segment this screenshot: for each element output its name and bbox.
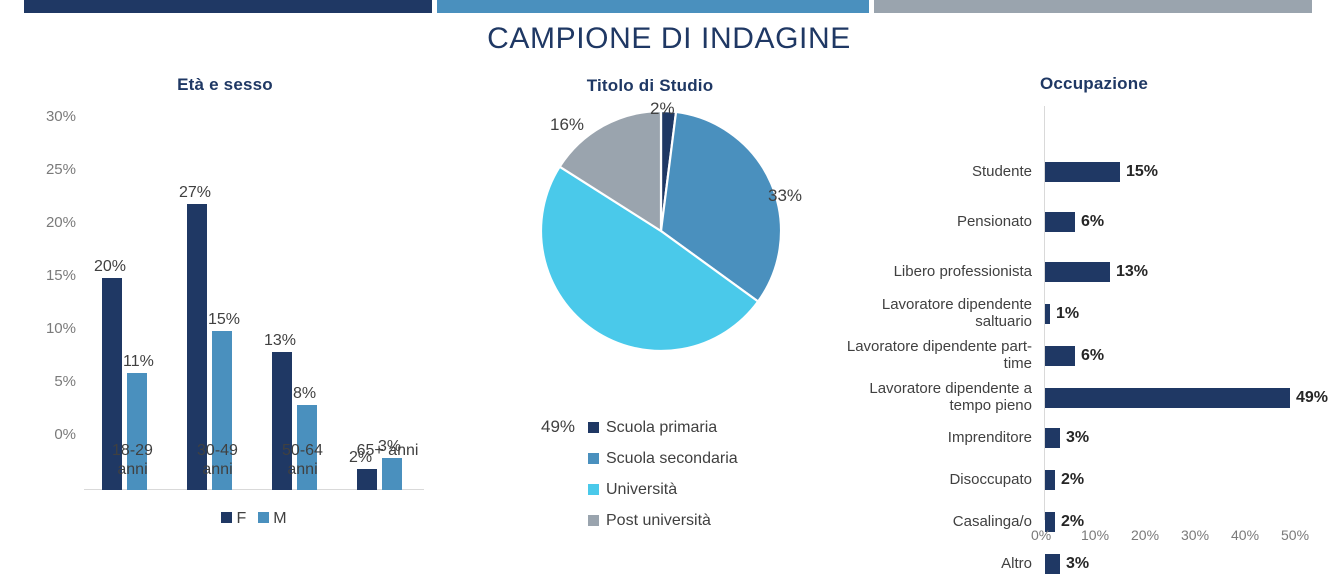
x-axis-category-label: 30-49anni <box>175 442 260 480</box>
x-axis-tick: 50% <box>1281 528 1309 542</box>
bar[interactable] <box>1045 262 1110 282</box>
bar[interactable] <box>1045 304 1050 324</box>
x-axis-category-label: 18-29anni <box>90 442 175 480</box>
bar[interactable] <box>1045 428 1060 448</box>
bar[interactable] <box>1045 346 1075 366</box>
y-axis-tick: 30% <box>8 109 76 124</box>
bar-category-label: Libero professionista <box>822 263 1032 280</box>
bar-category-label: Imprenditore <box>822 429 1032 446</box>
bar-value-label: 1% <box>1056 306 1079 322</box>
bar-value-label: 13% <box>1116 264 1148 280</box>
pie-value-label: 16% <box>550 116 584 133</box>
y-axis-tick: 5% <box>8 374 76 389</box>
legend-label: Scuola primaria <box>606 419 717 437</box>
bar-value-label: 49% <box>1296 390 1328 406</box>
bar[interactable] <box>1045 388 1290 408</box>
legend-swatch <box>588 422 599 433</box>
bar-value-label: 3% <box>1066 556 1089 572</box>
bar-category-label: Lavoratore dipendente part-time <box>822 338 1032 373</box>
page-title: CAMPIONE DI INDAGINE <box>0 22 1338 56</box>
bar[interactable] <box>1045 162 1120 182</box>
horizontal-bar-plot-area: Studente15%Pensionato6%Libero profession… <box>850 106 1338 526</box>
y-axis-tick: 10% <box>8 321 76 336</box>
vertical-bar-plot-area: 0%5%10%15%20%25%30%20%11%18-29anni27%15%… <box>84 116 424 490</box>
bar-value-label: 20% <box>94 259 126 275</box>
bar-value-label: 6% <box>1081 214 1104 230</box>
bar-category-label: Disoccupato <box>822 471 1032 488</box>
legend-item[interactable]: Università <box>588 474 738 505</box>
y-axis-tick: 25% <box>8 162 76 177</box>
legend-swatch <box>588 453 599 464</box>
legend-titolo-di-studio: Scuola primariaScuola secondariaUniversi… <box>588 412 738 536</box>
legend-item-f[interactable]: F <box>221 510 246 527</box>
y-axis-tick: 0% <box>8 427 76 442</box>
pie-value-label: 33% <box>768 187 802 204</box>
chart-title-titolo-di-studio: Titolo di Studio <box>450 76 850 96</box>
x-axis-tick: 10% <box>1081 528 1109 542</box>
legend-swatch <box>588 515 599 526</box>
x-axis-tick: 40% <box>1231 528 1259 542</box>
pie-plot-area <box>538 108 784 354</box>
legend-swatch <box>258 512 269 523</box>
bar-value-label: 15% <box>1126 164 1158 180</box>
chart-titolo-di-studio: Titolo di Studio Scuola primariaScuola s… <box>450 60 850 559</box>
legend-label: M <box>273 510 286 527</box>
bar-value-label: 13% <box>264 333 296 349</box>
x-axis-tick: 0% <box>1031 528 1051 542</box>
bar[interactable] <box>1045 554 1060 574</box>
legend-item-m[interactable]: M <box>258 510 286 527</box>
bar-category-label: Lavoratore dipendentesaltuario <box>822 296 1032 331</box>
y-axis-tick: 15% <box>8 268 76 283</box>
legend-swatch <box>588 484 599 495</box>
legend-label: F <box>236 510 246 527</box>
chart-occupazione: Occupazione Studente15%Pensionato6%Liber… <box>850 60 1338 559</box>
bar[interactable] <box>1045 470 1055 490</box>
pie-value-label: 49% <box>541 418 575 435</box>
pie-svg <box>538 108 784 354</box>
header-accent-bar-blue <box>437 0 869 13</box>
header-accent-bar-gray <box>874 0 1312 13</box>
legend-label: Università <box>606 481 677 499</box>
bar-category-label: Studente <box>822 163 1032 180</box>
header-accent-bar-navy <box>24 0 432 13</box>
chart-title-occupazione: Occupazione <box>850 74 1338 94</box>
pie-value-label: 2% <box>650 100 675 117</box>
bar-value-label: 15% <box>208 312 240 328</box>
bar-m[interactable] <box>382 458 402 490</box>
legend-item[interactable]: Scuola secondaria <box>588 443 738 474</box>
x-axis-category-label: 50-64anni <box>260 442 345 480</box>
x-axis-category-label: 65+ anni <box>345 442 430 461</box>
legend-item[interactable]: Scuola primaria <box>588 412 738 443</box>
bar-value-label: 2% <box>1061 472 1084 488</box>
legend-swatch <box>221 512 232 523</box>
bar-category-label: Pensionato <box>822 213 1032 230</box>
x-axis-ticks-occupazione: 0%10%20%30%40%50% <box>850 528 1338 546</box>
bar-category-label: Altro <box>822 555 1032 572</box>
bar-value-label: 11% <box>123 354 154 370</box>
legend-eta-e-sesso: FM <box>84 510 424 528</box>
bar-value-label: 3% <box>1066 430 1089 446</box>
x-axis-tick: 30% <box>1181 528 1209 542</box>
bar-category-label: Lavoratore dipendente atempo pieno <box>822 380 1032 415</box>
legend-label: Scuola secondaria <box>606 450 738 468</box>
legend-label: Post università <box>606 512 711 530</box>
bar[interactable] <box>1045 212 1075 232</box>
bar-value-label: 27% <box>179 185 211 201</box>
bar-value-label: 6% <box>1081 348 1104 364</box>
bar-value-label: 8% <box>293 386 316 402</box>
y-axis-tick: 20% <box>8 215 76 230</box>
chart-eta-e-sesso: Età e sesso 0%5%10%15%20%25%30%20%11%18-… <box>0 60 450 559</box>
bar-f[interactable] <box>357 469 377 490</box>
legend-item[interactable]: Post università <box>588 505 738 536</box>
x-axis-tick: 20% <box>1131 528 1159 542</box>
chart-title-eta-e-sesso: Età e sesso <box>0 75 450 95</box>
